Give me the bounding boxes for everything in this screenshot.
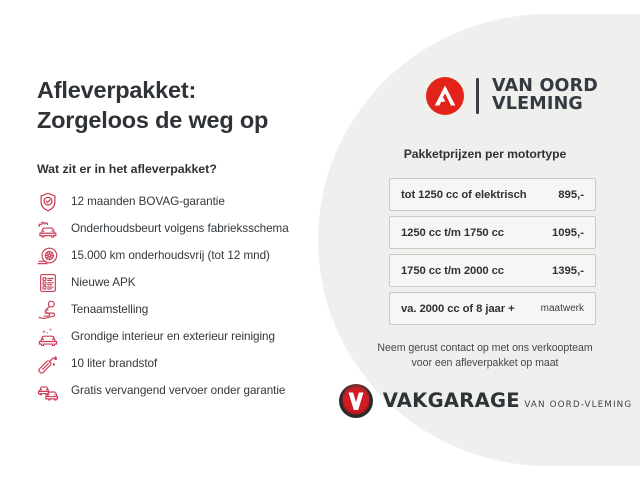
key-handover-icon <box>37 299 59 321</box>
checklist-clipboard-icon <box>37 272 59 294</box>
contact-text: Neem gerust contact op met ons verkoopte… <box>330 341 640 372</box>
list-item: Grondige interieur en exterieur reinigin… <box>37 323 327 350</box>
list-item: Nieuwe APK <box>37 269 327 296</box>
table-cell-label: 1750 cc t/m 2000 cc <box>401 265 504 277</box>
table-row: va. 2000 cc of 8 jaar + maatwerk <box>389 292 596 325</box>
vakgarage-name: VAKGARAGE <box>383 389 520 412</box>
car-service-gear-icon <box>37 218 59 240</box>
left-column: Afleverpakket: Zorgeloos de weg op Wat z… <box>0 0 330 480</box>
vakgarage-v-logo-icon <box>338 383 374 419</box>
price-table: tot 1250 cc of elektrisch 895,- 1250 cc … <box>389 178 596 330</box>
right-column: VAN OORD VLEMING Pakketprijzen per motor… <box>330 0 640 480</box>
vakgarage-wordmark: VAKGARAGE VAN OORD-VLEMING <box>383 391 633 411</box>
brand-name-line2: VLEMING <box>492 96 598 114</box>
list-item: 12 maanden BOVAG-garantie <box>37 188 327 215</box>
list-item-label: 12 maanden BOVAG-garantie <box>71 195 225 208</box>
vakgarage-subname: VAN OORD-VLEMING <box>524 400 632 410</box>
contact-text-line2: voor een afleverpakket op maat <box>330 356 640 371</box>
page-title-line1: Afleverpakket: <box>37 77 196 103</box>
list-item: 15.000 km onderhoudsvrij (tot 12 mnd) <box>37 242 327 269</box>
replacement-cars-icon <box>37 380 59 402</box>
van-oord-a-logo-icon <box>425 76 465 116</box>
promo-banner: Afleverpakket: Zorgeloos de weg op Wat z… <box>0 0 640 480</box>
table-cell-price: 1395,- <box>552 265 584 277</box>
brand-divider <box>476 78 479 114</box>
list-item: Gratis vervangend vervoer onder garantie <box>37 377 327 404</box>
contact-text-line1: Neem gerust contact op met ons verkoopte… <box>330 341 640 356</box>
list-item: 10 liter brandstof <box>37 350 327 377</box>
table-cell-label: va. 2000 cc of 8 jaar + <box>401 303 515 315</box>
feature-list: 12 maanden BOVAG-garantie Onderhoudsbeur… <box>37 188 327 404</box>
page-title: Afleverpakket: Zorgeloos de weg op <box>37 76 317 136</box>
shield-check-icon <box>37 191 59 213</box>
table-cell-price: 1095,- <box>552 227 584 239</box>
list-item-label: Tenaamstelling <box>71 303 148 316</box>
table-row: 1750 cc t/m 2000 cc 1395,- <box>389 254 596 287</box>
list-item-label: Onderhoudsbeurt volgens fabrieksschema <box>71 222 289 235</box>
section-subtitle: Wat zit er in het afleverpakket? <box>37 162 217 176</box>
table-row: tot 1250 cc of elektrisch 895,- <box>389 178 596 211</box>
vakgarage-logo: VAKGARAGE VAN OORD-VLEMING <box>330 383 640 419</box>
table-cell-price: maatwerk <box>541 303 584 314</box>
table-cell-label: tot 1250 cc of elektrisch <box>401 189 527 201</box>
list-item-label: Gratis vervangend vervoer onder garantie <box>71 384 285 397</box>
brand-name: VAN OORD VLEMING <box>492 78 598 114</box>
list-item: Onderhoudsbeurt volgens fabrieksschema <box>37 215 327 242</box>
list-item-label: Nieuwe APK <box>71 276 135 289</box>
price-table-title: Pakketprijzen per motortype <box>330 147 640 161</box>
tire-wheel-icon <box>37 245 59 267</box>
list-item: Tenaamstelling <box>37 296 327 323</box>
table-cell-label: 1250 cc t/m 1750 cc <box>401 227 504 239</box>
table-cell-price: 895,- <box>558 189 584 201</box>
list-item-label: Grondige interieur en exterieur reinigin… <box>71 330 275 343</box>
fuel-nozzle-icon <box>37 353 59 375</box>
car-sparkle-clean-icon <box>37 326 59 348</box>
list-item-label: 15.000 km onderhoudsvrij (tot 12 mnd) <box>71 249 270 262</box>
list-item-label: 10 liter brandstof <box>71 357 157 370</box>
brand-logo: VAN OORD VLEMING <box>425 76 598 116</box>
page-title-line2: Zorgeloos de weg op <box>37 106 317 136</box>
table-row: 1250 cc t/m 1750 cc 1095,- <box>389 216 596 249</box>
